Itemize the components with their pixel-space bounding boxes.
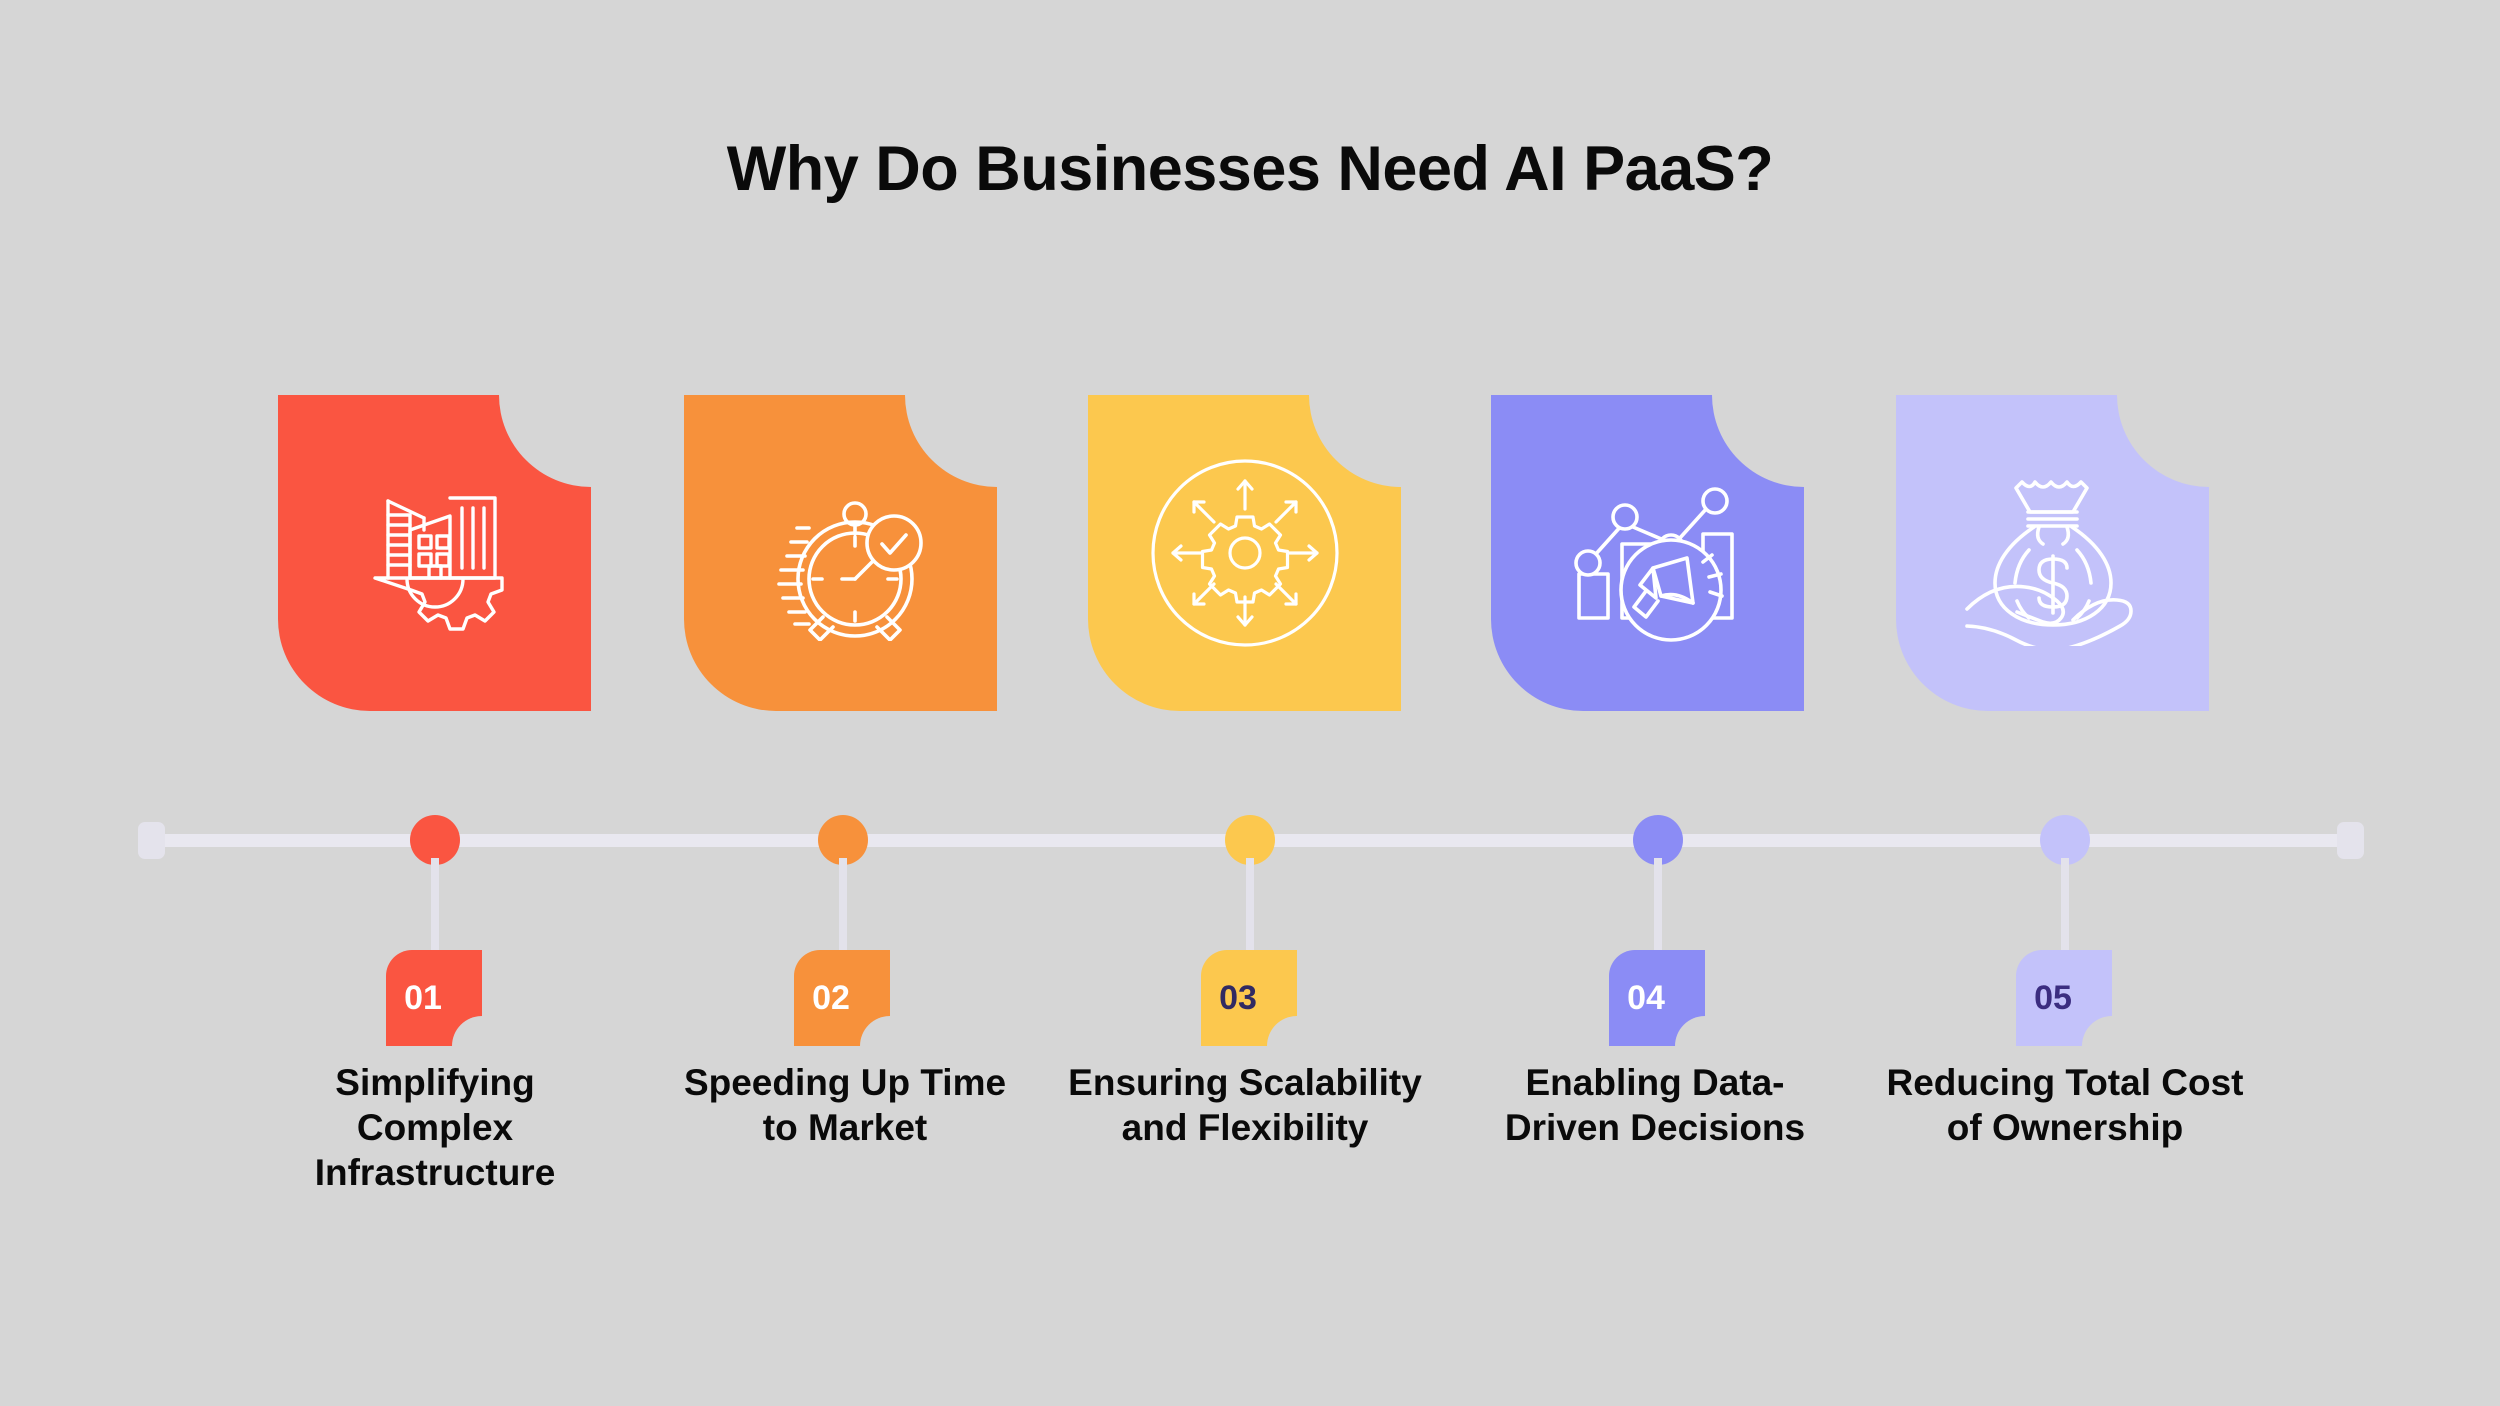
- step-number-1: 01: [386, 950, 460, 1046]
- page-title: Why Do Businesses Need AI PaaS?: [0, 138, 2500, 201]
- timeline-stem-3: [1246, 858, 1254, 962]
- timeline-stem-1: [431, 858, 439, 962]
- timeline-right-cap: [2337, 822, 2364, 859]
- icon-card-2[interactable]: [684, 395, 997, 711]
- timeline-left-cap: [138, 822, 165, 859]
- step-caption-4: Enabling Data-Driven Decisions: [1475, 1060, 1835, 1150]
- step-caption-5: Reducing Total Cost of Ownership: [1885, 1060, 2245, 1150]
- captions-row: Simplifying Complex Infrastructure Speed…: [0, 1060, 2500, 1280]
- bar-chart-megaphone-icon: [1491, 395, 1804, 711]
- step-number-3: 03: [1201, 950, 1275, 1046]
- icon-card-5[interactable]: [1896, 395, 2209, 711]
- timeline-stem-2: [839, 858, 847, 962]
- step-number-badge-4[interactable]: 04: [1609, 950, 1705, 1046]
- step-caption-2: Speeding Up Time to Market: [665, 1060, 1025, 1150]
- timeline-stem-5: [2061, 858, 2069, 962]
- icon-cards-row: [278, 395, 2222, 711]
- icon-card-3[interactable]: [1088, 395, 1401, 711]
- step-number-badge-5[interactable]: 05: [2016, 950, 2112, 1046]
- step-number-badge-2[interactable]: 02: [794, 950, 890, 1046]
- stopwatch-check-icon: [684, 395, 997, 711]
- step-caption-3: Ensuring Scalability and Flexibility: [1065, 1060, 1425, 1150]
- buildings-gear-icon: [278, 395, 591, 711]
- timeline: 01 02 03 04 05: [0, 840, 2500, 842]
- money-bag-hand-icon: [1896, 395, 2209, 711]
- icon-card-4[interactable]: [1491, 395, 1804, 711]
- step-caption-1: Simplifying Complex Infrastructure: [255, 1060, 615, 1195]
- timeline-stem-4: [1654, 858, 1662, 962]
- step-number-5: 05: [2016, 950, 2090, 1046]
- step-number-badge-1[interactable]: 01: [386, 950, 482, 1046]
- gear-expand-arrows-icon: [1088, 395, 1401, 711]
- icon-card-1[interactable]: [278, 395, 591, 711]
- step-number-2: 02: [794, 950, 868, 1046]
- step-number-badge-3[interactable]: 03: [1201, 950, 1297, 1046]
- step-number-4: 04: [1609, 950, 1683, 1046]
